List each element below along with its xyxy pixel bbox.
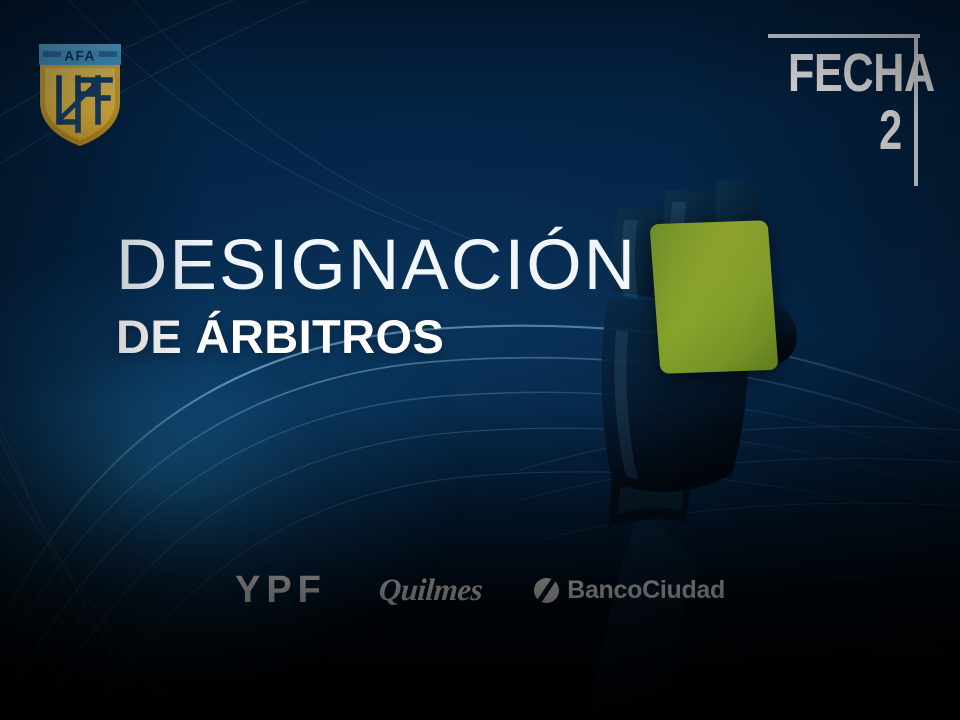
promo-graphic: AFA FECHA 2 DESIGNACIÓN	[0, 0, 960, 720]
vignette-overlay	[0, 0, 960, 720]
